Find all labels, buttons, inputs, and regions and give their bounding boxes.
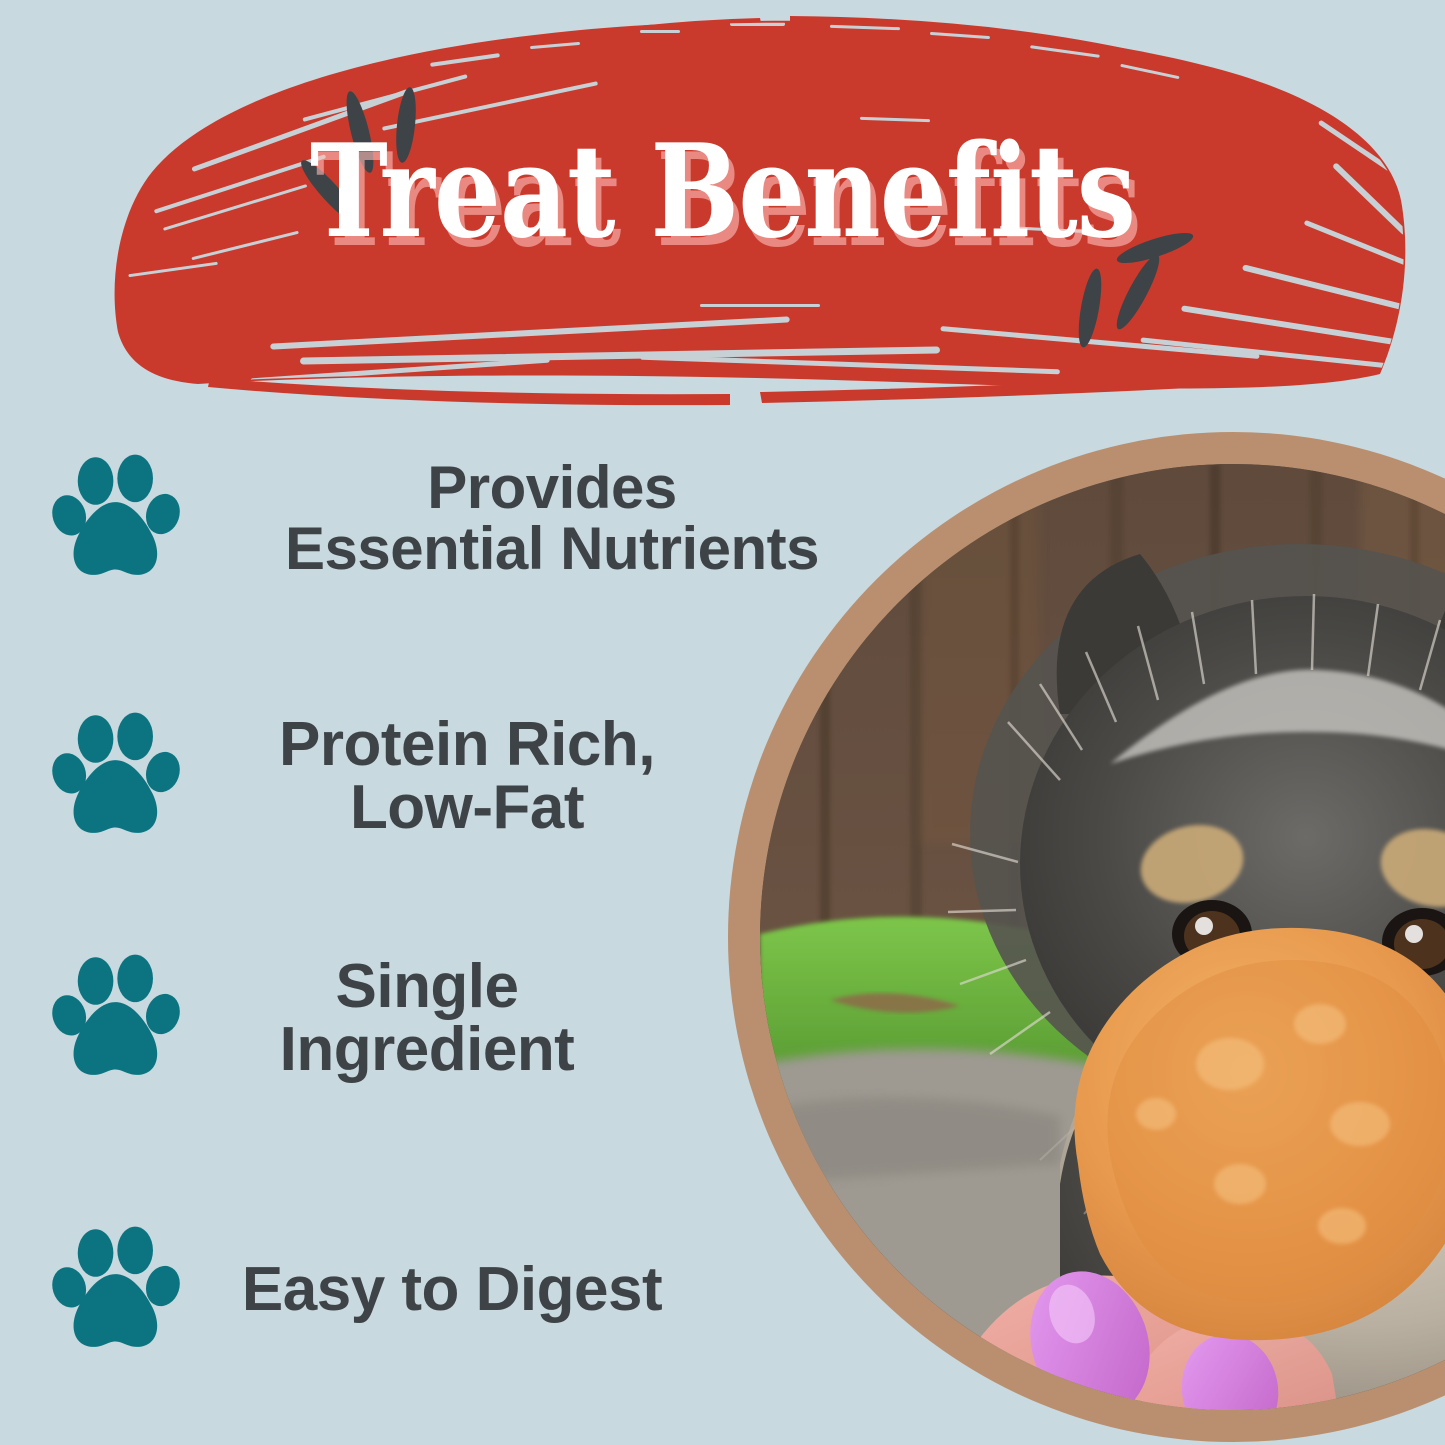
treat-benefits-poster: Treat Benefits xyxy=(0,0,1445,1445)
benefit-label: Protein Rich, Low-Fat xyxy=(184,713,900,839)
page-title: Treat Benefits xyxy=(130,128,1315,256)
paw-print-icon xyxy=(52,952,184,1084)
list-item: Protein Rich, Low-Fat xyxy=(0,710,900,842)
paw-print-icon xyxy=(52,1224,184,1356)
benefit-label: Easy to Digest xyxy=(184,1258,900,1321)
paw-print-icon xyxy=(52,710,184,842)
paw-print-icon xyxy=(52,452,184,584)
list-item: Provides Essential Nutrients xyxy=(0,452,900,584)
header-banner: Treat Benefits xyxy=(0,0,1445,420)
list-item: Easy to Digest xyxy=(0,1224,900,1356)
benefit-label: Single Ingredient xyxy=(184,955,900,1081)
benefit-label: Provides Essential Nutrients xyxy=(184,457,900,579)
list-item: Single Ingredient xyxy=(0,952,900,1084)
